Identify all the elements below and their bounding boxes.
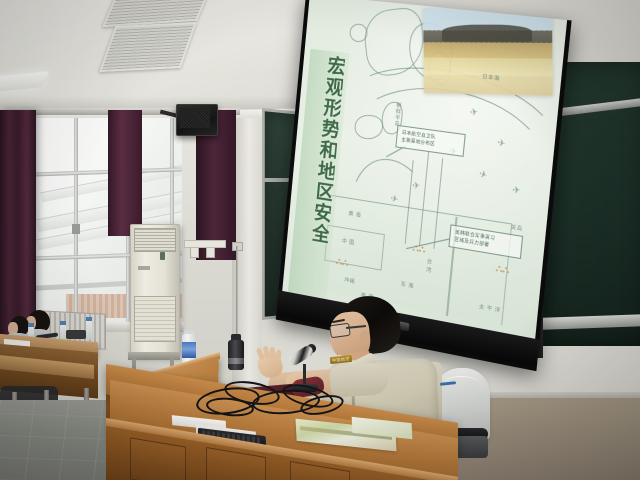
air-conditioner-display xyxy=(160,252,165,260)
air-conditioner-lower-grille-icon xyxy=(134,296,176,342)
photo-scene: ✈ ✈ ✈ ✈ ✈ ✈ ✈ ⛬⛬ ⛬⛬ ⛬⛬ 日本航空自卫队 主要基地分布区 美… xyxy=(0,0,640,480)
speaker-grille-icon xyxy=(180,108,210,128)
window-latch-icon[interactable] xyxy=(72,224,80,234)
presenter-sleeve xyxy=(329,362,389,398)
air-conditioner-logo xyxy=(138,266,150,270)
wall-mount-plate xyxy=(184,240,226,248)
map-unit-icon: ⛬⛬ xyxy=(336,257,349,268)
wall-hook-icon[interactable] xyxy=(206,248,215,258)
glasses-icon xyxy=(329,323,351,339)
presenter-ear xyxy=(360,330,370,344)
map-aircraft-icon: ✈ xyxy=(389,194,399,205)
map-aircraft-icon: ✈ xyxy=(496,138,506,149)
map-aircraft-icon: ✈ xyxy=(512,186,520,196)
curtain[interactable] xyxy=(0,110,36,338)
bottle-cap xyxy=(28,323,34,327)
thermos[interactable] xyxy=(228,340,244,370)
map-aircraft-icon: ✈ xyxy=(412,181,420,190)
water-bottle[interactable] xyxy=(86,320,92,340)
thermos-band xyxy=(228,358,244,364)
presenter-finger xyxy=(270,347,276,359)
bottle-cap xyxy=(60,321,66,325)
desk-device[interactable] xyxy=(66,330,86,339)
slide-photo-building xyxy=(442,25,532,42)
microphone-stem xyxy=(303,364,306,386)
screen-surface: ✈ ✈ ✈ ✈ ✈ ✈ ✈ ⛬⛬ ⛬⛬ ⛬⛬ 日本航空自卫队 主要基地分布区 美… xyxy=(282,0,568,347)
hanging-cable xyxy=(236,246,238,342)
water-bottle-label xyxy=(182,342,196,358)
slide-inset-photo xyxy=(423,8,553,96)
wall-hook-icon[interactable] xyxy=(190,248,199,258)
map-aircraft-icon: ✈ xyxy=(469,107,478,117)
bottle-cap xyxy=(86,317,92,321)
curtain[interactable] xyxy=(108,110,142,236)
projection-screen: ✈ ✈ ✈ ✈ ✈ ✈ ✈ ⛬⛬ ⛬⛬ ⛬⛬ 日本航空自卫队 主要基地分布区 美… xyxy=(276,0,572,371)
air-conditioner-grille-icon xyxy=(134,228,176,252)
